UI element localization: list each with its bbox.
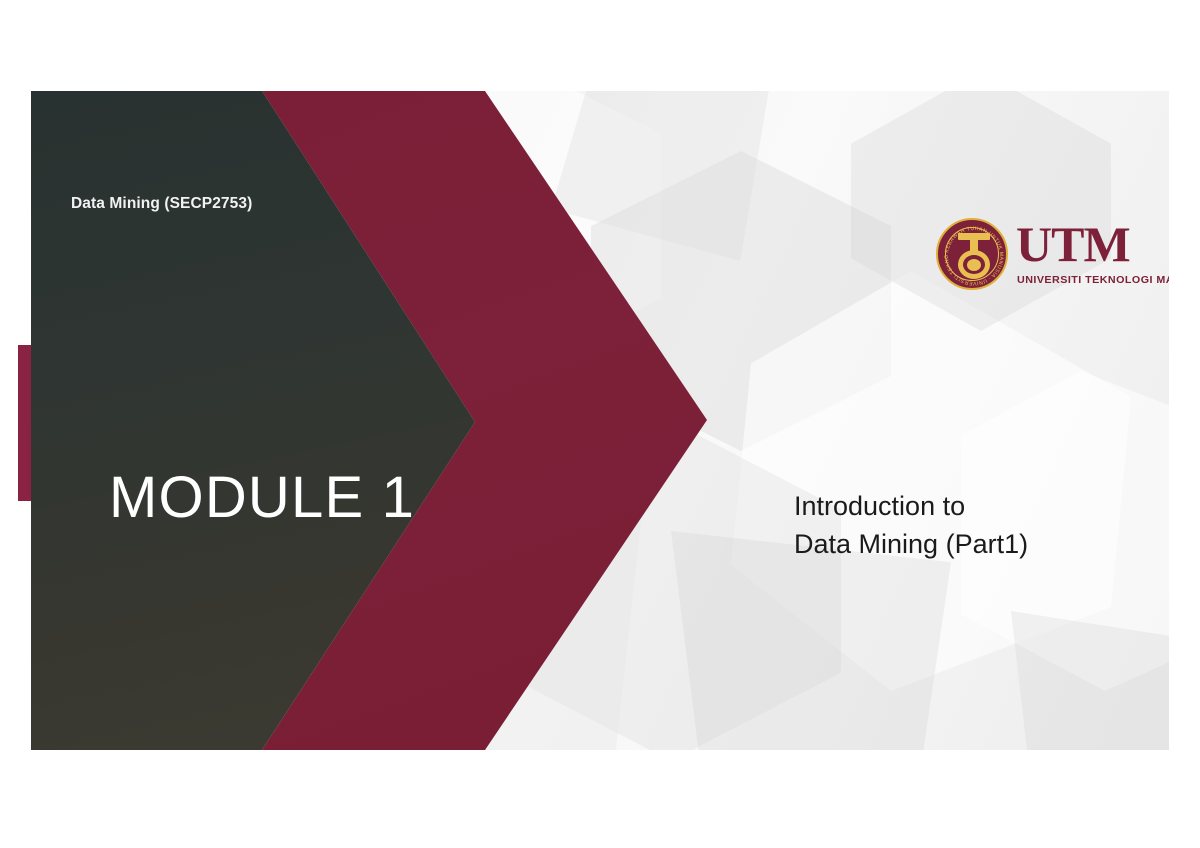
utm-wordmark: UTM [1016,219,1130,269]
course-label: Data Mining (SECP2753) [71,195,252,213]
subject-heading: Introduction to Data Mining (Part1) [794,487,1028,564]
title-slide: Data Mining (SECP2753) MODULE 1 Introduc… [31,91,1169,750]
module-title: MODULE 1 [109,469,415,527]
background-polygon [671,531,951,750]
slide-canvas: Data Mining (SECP2753) MODULE 1 Introduc… [0,0,1200,848]
subject-line-2: Data Mining (Part1) [794,525,1028,563]
emblem-symbol-icon [956,233,992,279]
utm-logo: KEBAWAH TUHAN UNTUK MANUSIA · UNIVERSITI… [936,217,1161,293]
subject-line-1: Introduction to [794,487,1028,525]
left-accent-bar [18,345,32,501]
utm-emblem-icon: KEBAWAH TUHAN UNTUK MANUSIA · UNIVERSITI… [936,218,1008,290]
utm-logo-subtitle: UNIVERSITI TEKNOLOGI MALAYSIA [1017,274,1169,286]
